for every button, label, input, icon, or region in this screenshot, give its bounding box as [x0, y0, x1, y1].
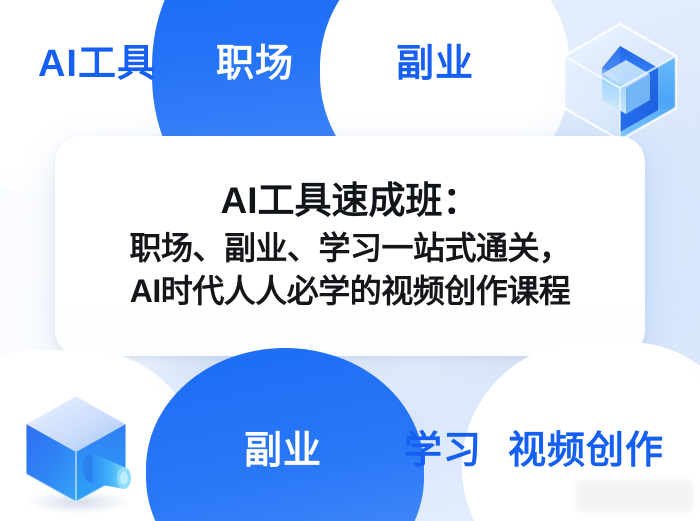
glass-outline-cube-icon	[552, 12, 688, 148]
card-title: AI工具速成班：	[221, 179, 480, 223]
bottom-tag-label-side-hustle: 副业	[198, 432, 368, 470]
watermark-blur	[576, 481, 694, 511]
main-message-card: AI工具速成班： 职场、副业、学习一站式通关， AI时代人人必学的视频创作课程	[55, 136, 645, 356]
bottom-tag-label-video-creation: 视频创作	[508, 432, 700, 470]
poster-canvas: AI工具 职场 副业	[0, 0, 700, 521]
top-tag-row: AI工具 职场 副业	[0, 0, 700, 140]
blue-cube-plug-icon	[12, 382, 148, 518]
top-tag-label-workplace: 职场	[190, 45, 320, 83]
bottom-tag-label-study: 学习	[378, 432, 508, 470]
card-subtitle-line-2: AI时代人人必学的视频创作课程	[130, 270, 571, 313]
top-tag-label-ai-tools: AI工具	[12, 45, 182, 83]
card-subtitle-line-1: 职场、副业、学习一站式通关，	[129, 227, 570, 270]
top-tag-label-side-hustle: 副业	[370, 45, 500, 83]
